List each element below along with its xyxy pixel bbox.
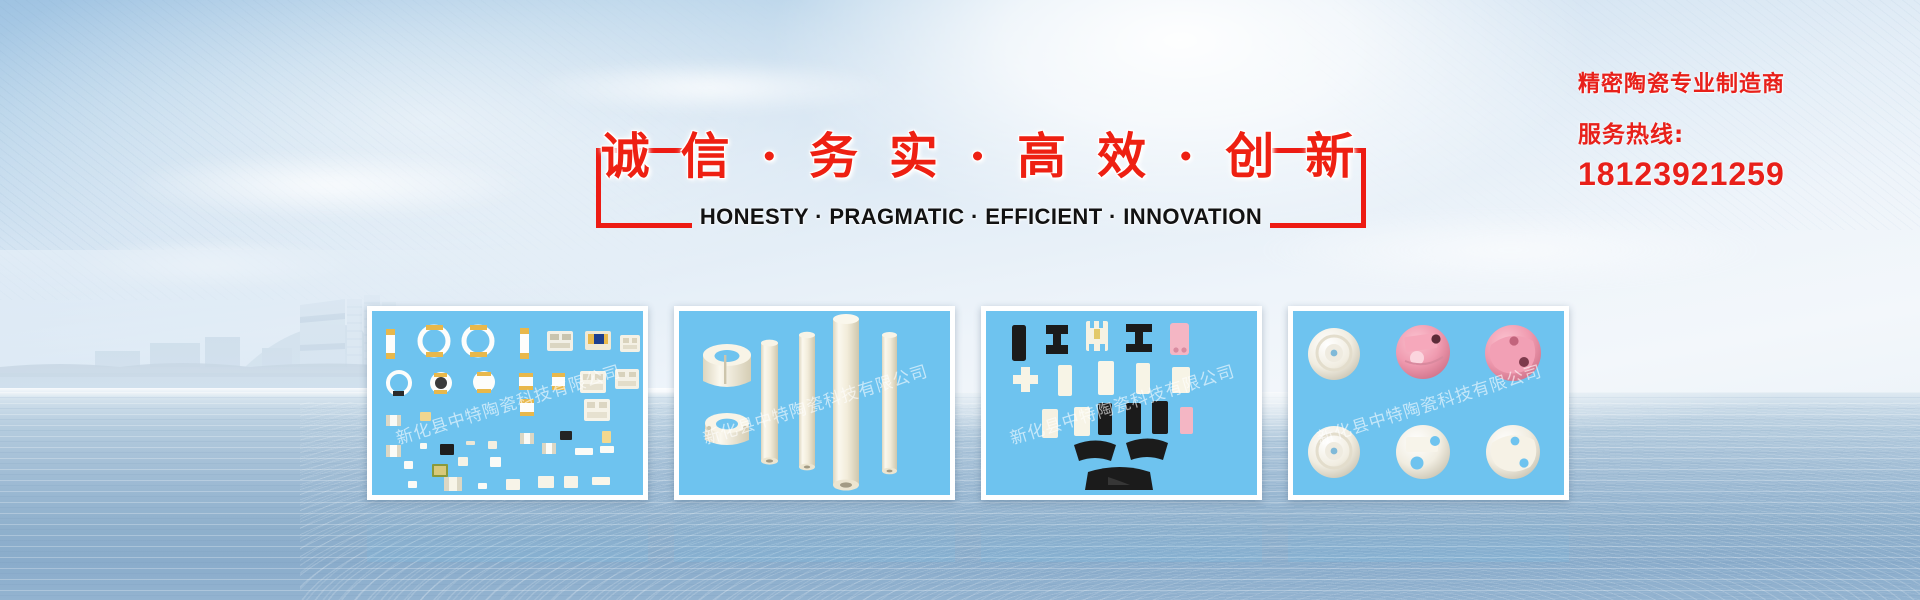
product-card-smd-chip-components[interactable]: 新化县中特陶瓷科技有限公司 [367, 306, 648, 500]
slogan-chinese: 诚 信 · 务 实 · 高 效 · 创 新 [596, 128, 1366, 186]
hotline-label: 服务热线: [1578, 115, 1898, 149]
smd-chip-components-image [372, 311, 643, 495]
product-card-ceramic-blocks-and-arc-parts[interactable]: 新化县中特陶瓷科技有限公司 [981, 306, 1262, 500]
ceramic-discs-image [1293, 311, 1564, 495]
slogan-english: HONESTY · PRAGMATIC · EFFICIENT · INNOVA… [596, 204, 1366, 230]
cloud-wisp-2 [520, 60, 900, 115]
ceramic-blocks-image [986, 311, 1257, 495]
product-card-ceramic-tubes-and-rings[interactable]: 新化县中特陶瓷科技有限公司 [674, 306, 955, 500]
cloud-wisp-1 [120, 150, 540, 220]
product-card-row: 新化县中特陶瓷科技有限公司 [367, 306, 1587, 500]
product-card-ceramic-discs-and-nozzles[interactable]: 新化县中特陶瓷科技有限公司 [1288, 306, 1569, 500]
hotline-phone-number[interactable]: 18123921259 [1578, 156, 1898, 193]
company-tagline: 精密陶瓷专业制造商 [1578, 66, 1898, 98]
hero-banner: 诚 信 · 务 实 · 高 效 · 创 新 HONESTY · PRAGMATI… [0, 0, 1920, 600]
ceramic-tubes-image [679, 311, 950, 495]
slogan-block: 诚 信 · 务 实 · 高 效 · 创 新 HONESTY · PRAGMATI… [596, 128, 1366, 238]
contact-block: 精密陶瓷专业制造商 服务热线: 18123921259 [1578, 66, 1898, 193]
